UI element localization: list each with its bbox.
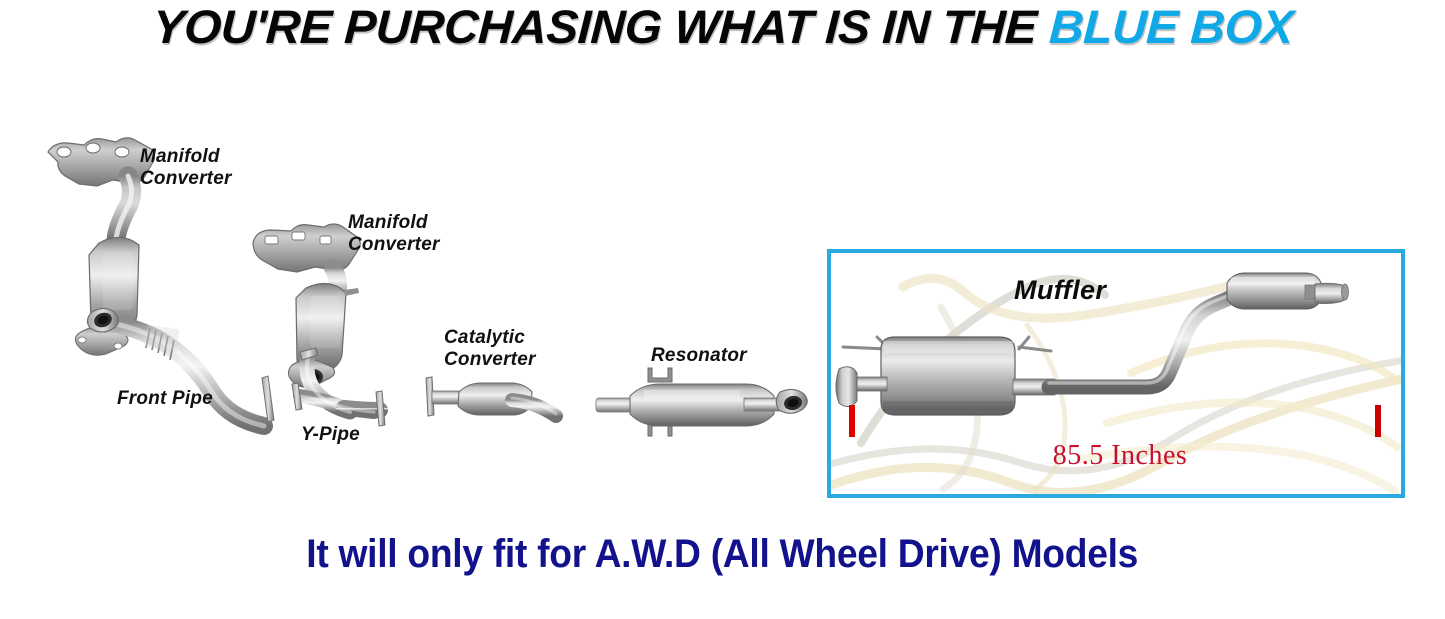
label-resonator: Resonator: [651, 345, 747, 367]
label-manifold-converter-1: Manifold Converter: [140, 146, 232, 190]
blue-box-highlight: Muffler 85.5 Inches: [827, 249, 1405, 498]
label-manifold-converter-2: Manifold Converter: [348, 212, 440, 256]
part-catalytic-converter: [426, 377, 556, 416]
label-front-pipe: Front Pipe: [117, 388, 213, 410]
label-y-pipe: Y-Pipe: [301, 424, 360, 446]
fitment-note: It will only fit for A.W.D (All Wheel Dr…: [0, 524, 1445, 584]
label-muffler: Muffler: [1014, 275, 1106, 306]
part-resonator: [596, 368, 807, 436]
label-dimension: 85.5 Inches: [831, 440, 1405, 472]
fitment-note-text: It will only fit for A.W.D (All Wheel Dr…: [307, 532, 1139, 577]
rear-resonator-tip: [1227, 273, 1349, 309]
label-catalytic-converter: Catalytic Converter: [444, 327, 536, 371]
muffler-body: [836, 337, 1055, 415]
